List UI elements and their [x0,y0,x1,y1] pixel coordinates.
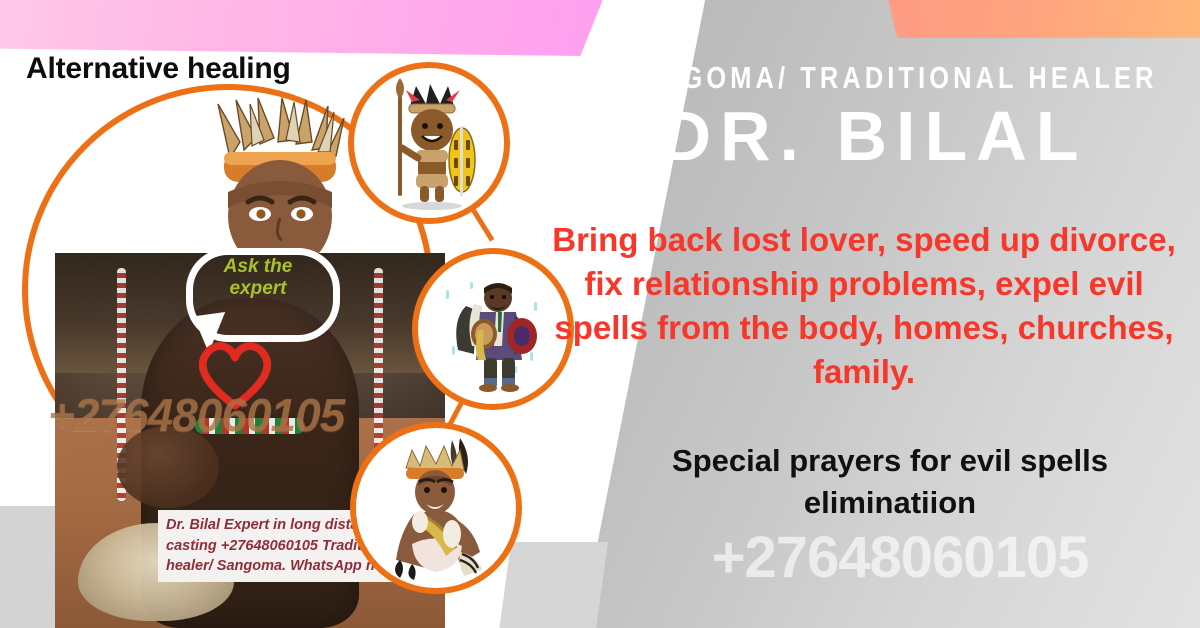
special-prayers-text: Special prayers for evil spells eliminat… [592,440,1188,524]
watermark-phone-number: +27648060105 [600,524,1200,591]
ask-the-expert-text: Ask the expert [200,256,316,301]
brand-title-dr-bilal: DR. BILAL [560,100,1188,174]
services-description: Bring back lost lover, speed up divorce,… [540,218,1188,394]
alternative-healing-heading: Alternative healing [26,52,291,86]
gray-wedge-bottom-shape [498,542,608,628]
poster-canvas: Alternative healing [0,0,1200,628]
pink-banner-shape [0,0,605,56]
kicker-sangoma-traditional-healer: SANGOMA/ TRADITIONAL HEALER [617,60,1132,96]
zulu-warrior-cartoon-icon [348,62,510,224]
orange-banner-shape [884,0,1200,38]
gray-wedge-left-shape [0,506,58,628]
zulu-dancer-illustration-icon [350,422,522,594]
